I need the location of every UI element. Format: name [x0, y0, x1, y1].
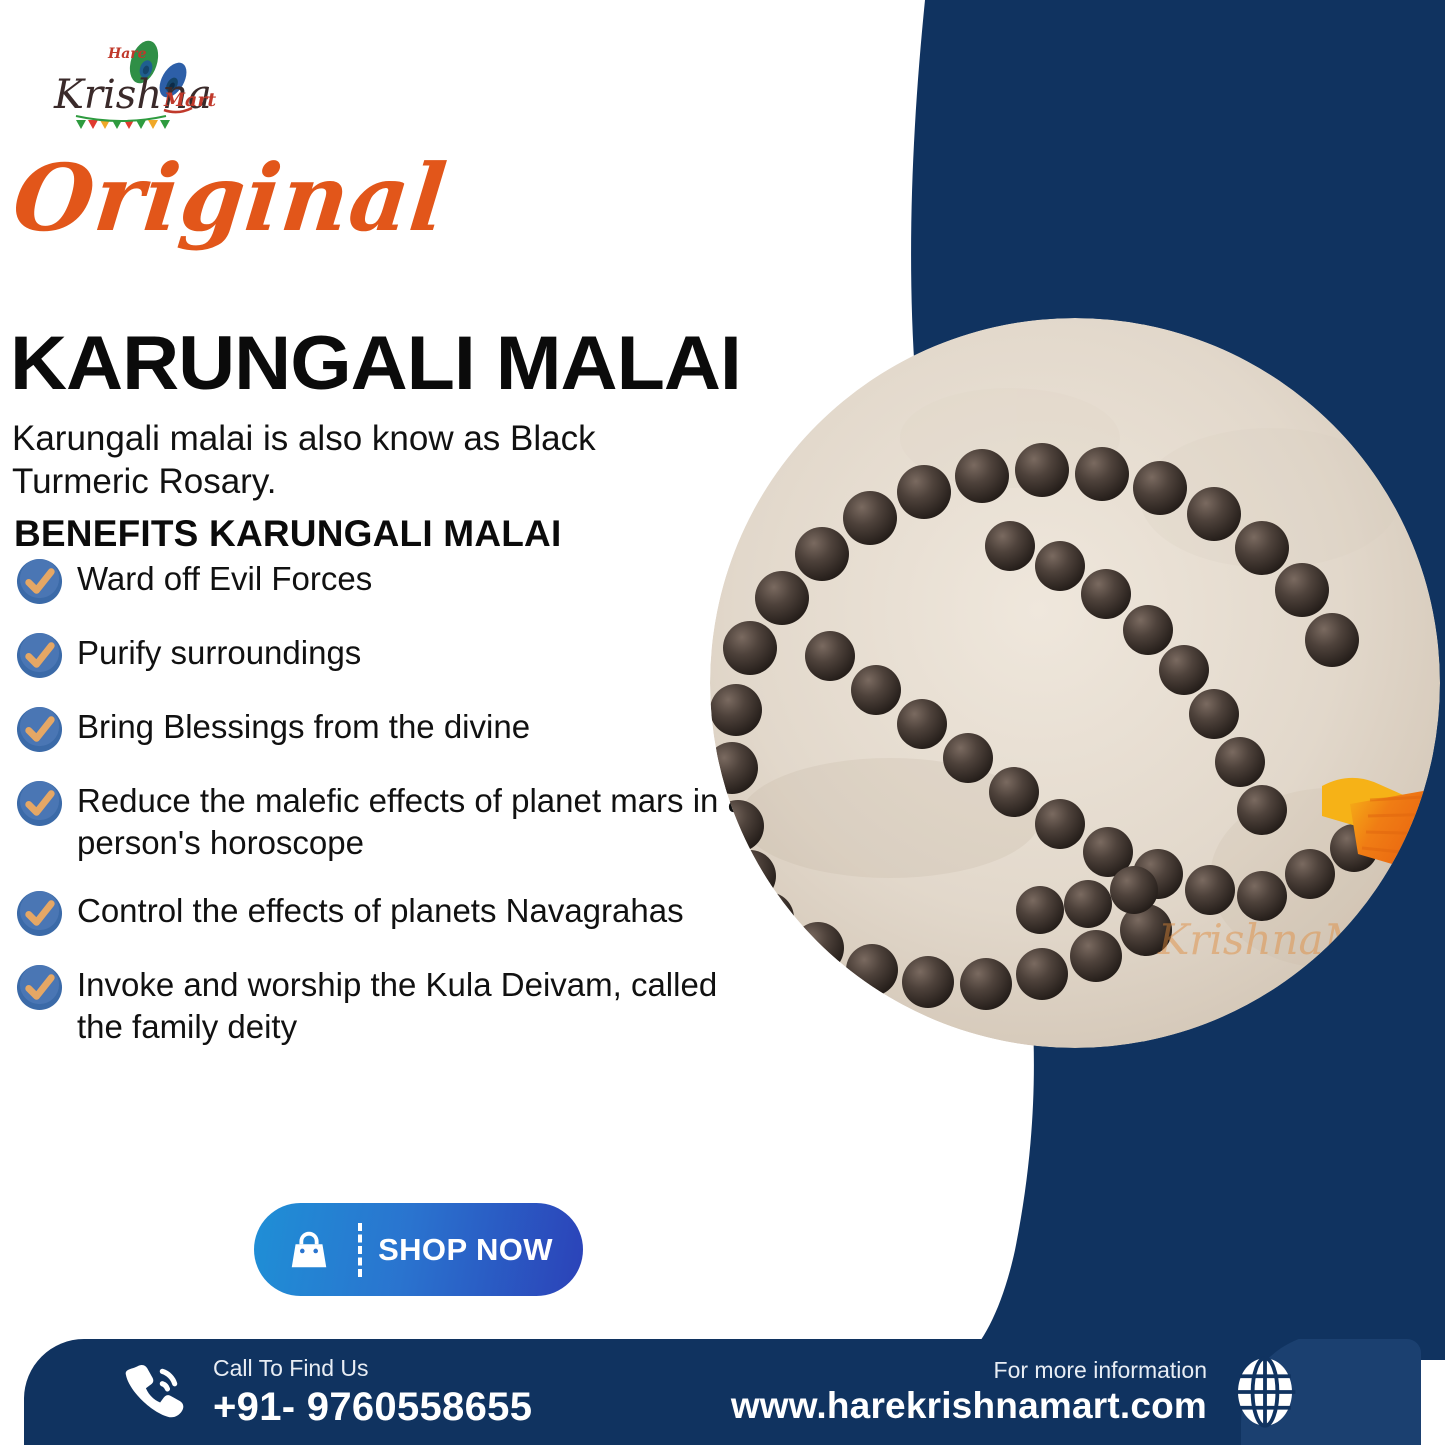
list-item: Purify surroundings: [16, 630, 756, 679]
globe-icon: [1229, 1356, 1301, 1428]
call-label: Call To Find Us: [213, 1356, 532, 1381]
more-info-label: For more information: [731, 1358, 1207, 1383]
shop-now-button[interactable]: SHOP NOW: [254, 1203, 583, 1296]
benefit-label: Purify surroundings: [77, 630, 361, 674]
subtitle-text: Karungali malai is also know as Black Tu…: [12, 418, 712, 503]
check-circle-icon: [16, 558, 63, 605]
phone-number[interactable]: +91- 9760558655: [213, 1386, 532, 1428]
list-item: Control the effects of planets Navagraha…: [16, 888, 756, 937]
product-image: KrishnaMart: [710, 318, 1440, 1048]
check-circle-icon: [16, 706, 63, 753]
benefit-label: Invoke and worship the Kula Deivam, call…: [77, 962, 756, 1047]
list-item: Bring Blessings from the divine: [16, 704, 756, 753]
check-circle-icon: [16, 964, 63, 1011]
hare-krishna-mart-logo: Hare Krishna Mart: [36, 36, 236, 141]
page-title: KARUNGALI MALAI: [10, 325, 741, 403]
shopping-bag-icon: [286, 1227, 332, 1273]
mala-beads-photo: KrishnaMart: [710, 318, 1440, 1048]
website-url[interactable]: www.harekrishnamart.com: [731, 1387, 1207, 1426]
footer-contact-block: Call To Find Us +91- 9760558655: [119, 1356, 532, 1427]
phone-ring-icon: [119, 1359, 185, 1425]
image-watermark: KrishnaMart: [1157, 915, 1429, 964]
script-original-text: Original: [9, 152, 451, 244]
promo-poster: Hare Krishna Mart Original KARUNGALI MAL…: [0, 0, 1445, 1445]
benefit-label: Bring Blessings from the divine: [77, 704, 530, 748]
footer-bar: Call To Find Us +91- 9760558655 For more…: [24, 1339, 1421, 1445]
benefit-label: Reduce the malefic effects of planet mar…: [77, 778, 756, 863]
benefit-label: Control the effects of planets Navagraha…: [77, 888, 684, 932]
check-circle-icon: [16, 780, 63, 827]
benefits-list: Ward off Evil Forces Purify surroundings…: [16, 556, 756, 1072]
check-circle-icon: [16, 632, 63, 679]
list-item: Ward off Evil Forces: [16, 556, 756, 605]
benefits-heading: BENEFITS KARUNGALI MALAI: [14, 513, 561, 555]
shop-now-label: SHOP NOW: [362, 1232, 583, 1268]
list-item: Reduce the malefic effects of planet mar…: [16, 778, 756, 863]
footer-website-block: For more information www.harekrishnamart…: [731, 1356, 1301, 1428]
benefit-label: Ward off Evil Forces: [77, 556, 372, 600]
list-item: Invoke and worship the Kula Deivam, call…: [16, 962, 756, 1047]
logo-hare-text: Hare: [107, 46, 147, 62]
check-circle-icon: [16, 890, 63, 937]
